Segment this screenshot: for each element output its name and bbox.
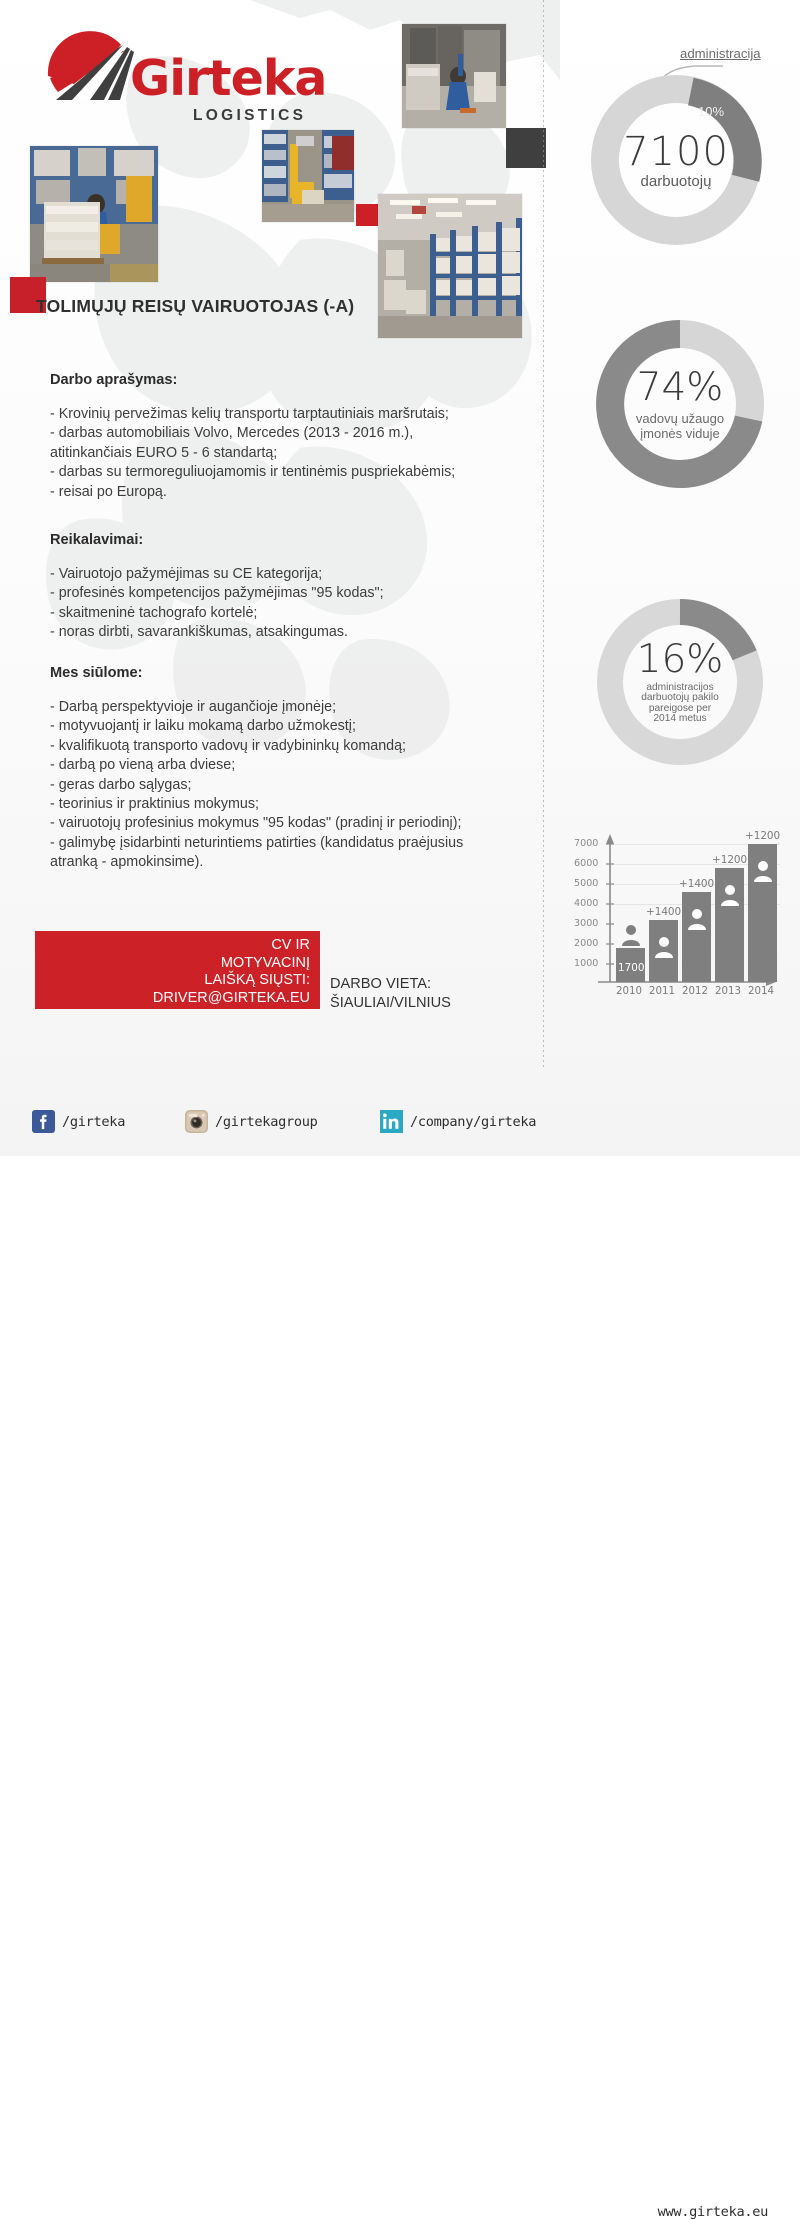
cv-contact-box[interactable]: CV IR MOTYVACINĮ LAIŠKĄ SIŲSTI: DRIVER@G… bbox=[35, 931, 320, 1009]
requirements-section: Reikalavimai: - Vairuotojo pažymėjimas s… bbox=[50, 532, 530, 643]
footer-linkedin[interactable]: /company/girteka bbox=[380, 1110, 536, 1133]
offer-item: - teorinius ir praktinius mokymus; bbox=[50, 795, 530, 814]
cv-line-2: MOTYVACINĮ bbox=[153, 955, 310, 973]
employees-caption: darbuotojų bbox=[641, 174, 712, 189]
vertical-divider bbox=[543, 0, 544, 1070]
xtick-2010: 2010 bbox=[616, 986, 642, 997]
job-location: DARBO VIETA: ŠIAULIAI/VILNIUS bbox=[330, 975, 451, 1013]
managers-donut-chart: 74% vadovų užaugo įmonės viduje bbox=[594, 318, 766, 490]
ytick-7000: 7000 bbox=[574, 838, 598, 849]
job-location-value: ŠIAULIAI/VILNIUS bbox=[330, 994, 451, 1013]
person-icon-2011 bbox=[654, 936, 674, 958]
promotion-caption-2: darbuotojų pakilo bbox=[641, 693, 719, 703]
photo-warehouse-racks bbox=[378, 194, 522, 338]
bar-value-2010: 1700 bbox=[618, 962, 644, 974]
promotion-donut-center: 16% administracijos darbuotojų pakilo pa… bbox=[594, 596, 766, 768]
requirements-item: - Vairuotojo pažymėjimas su CE kategorij… bbox=[50, 565, 530, 584]
administracija-callout-label: administracija bbox=[680, 46, 761, 61]
bar-value-2011: +1400 bbox=[646, 906, 681, 918]
ytick-4000: 4000 bbox=[574, 898, 598, 909]
offer-heading: Mes siūlome: bbox=[50, 665, 530, 681]
photo-forklift-aisle bbox=[262, 130, 354, 222]
managers-caption-1: vadovų užaugo bbox=[636, 412, 724, 426]
footer-facebook[interactable]: /girteka bbox=[32, 1110, 125, 1133]
offer-item: - motyvuojantį ir laiku mokamą darbo užm… bbox=[50, 717, 530, 736]
description-item: - darbas su termoreguliuojamomis ir tent… bbox=[50, 463, 530, 482]
employees-donut-chart: 10% 7100 darbuotojų bbox=[590, 74, 762, 246]
managers-caption-2: įmonės viduje bbox=[640, 427, 720, 441]
facebook-icon bbox=[32, 1110, 55, 1133]
ytick-3000: 3000 bbox=[574, 918, 598, 929]
person-icon-2012 bbox=[687, 908, 707, 930]
ytick-2000: 2000 bbox=[574, 938, 598, 949]
logo-wordmark: Girteka bbox=[130, 54, 327, 103]
xtick-2011: 2011 bbox=[649, 986, 675, 997]
offer-item: - darbą po vieną arba dviese; bbox=[50, 756, 530, 775]
instagram-handle: /girtekagroup bbox=[215, 1114, 318, 1130]
requirements-list: - Vairuotojo pažymėjimas su CE kategorij… bbox=[50, 565, 530, 643]
linkedin-icon bbox=[380, 1110, 403, 1133]
footer-instagram[interactable]: /girtekagroup bbox=[185, 1110, 318, 1133]
offer-section: Mes siūlome: - Darbą perspektyvioje ir a… bbox=[50, 665, 530, 873]
ytick-1000: 1000 bbox=[574, 958, 598, 969]
xtick-2013: 2013 bbox=[715, 986, 741, 997]
managers-percent: 74% bbox=[637, 368, 724, 407]
decorative-square-dark bbox=[506, 128, 546, 168]
poster-page: Girteka LOGISTICS bbox=[0, 0, 800, 1156]
employees-count: 7100 bbox=[623, 132, 729, 172]
ytick-6000: 6000 bbox=[574, 858, 598, 869]
person-icon-2014 bbox=[753, 860, 773, 882]
footer-website[interactable]: www.girteka.eu bbox=[658, 2204, 768, 2220]
requirements-heading: Reikalavimai: bbox=[50, 532, 530, 548]
cv-contact-lines: CV IR MOTYVACINĮ LAIŠKĄ SIŲSTI: DRIVER@G… bbox=[153, 937, 310, 1007]
bar-value-2014: +1200 bbox=[745, 830, 780, 842]
page-title: TOLIMŲJŲ REISŲ VAIRUOTOJAS (-A) bbox=[36, 296, 354, 317]
photo-pallet-truck-worker bbox=[30, 146, 158, 282]
decorative-square-red-mid bbox=[356, 204, 378, 226]
promotion-caption-4: 2014 metus bbox=[653, 714, 706, 724]
bar-value-2013: +1200 bbox=[712, 854, 747, 866]
offer-item: - kvalifikuotą transporto vadovų ir vady… bbox=[50, 737, 530, 756]
offer-item: - vairuotojų profesinius mokymus "95 kod… bbox=[50, 814, 530, 833]
job-location-label: DARBO VIETA: bbox=[330, 975, 451, 994]
offer-item: atranką - apmokinsime). bbox=[50, 853, 530, 872]
description-item: atitinkančiais EURO 5 - 6 standartą; bbox=[50, 444, 530, 463]
footer: /girteka /girtekagroup /company/girteka bbox=[0, 1092, 800, 1156]
cv-email[interactable]: DRIVER@GIRTEKA.EU bbox=[153, 990, 310, 1008]
offer-item: - galimybę įsidarbinti neturintiems pati… bbox=[50, 834, 530, 853]
bar-2012 bbox=[682, 892, 711, 982]
description-item: - darbas automobiliais Volvo, Mercedes (… bbox=[50, 424, 530, 443]
xtick-2014: 2014 bbox=[748, 986, 774, 997]
offer-item: - Darbą perspektyvioje ir augančioje įmo… bbox=[50, 698, 530, 717]
description-heading: Darbo aprašymas: bbox=[50, 372, 530, 388]
requirements-item: - profesinės kompetencijos pažymėjimas "… bbox=[50, 584, 530, 603]
logo-subtitle: LOGISTICS bbox=[193, 107, 306, 125]
description-list: - Krovinių pervežimas kelių transportu t… bbox=[50, 405, 530, 502]
offer-item: - geras darbo sąlygas; bbox=[50, 776, 530, 795]
photo-warehouse-worker-top bbox=[402, 24, 506, 128]
managers-donut-center: 74% vadovų užaugo įmonės viduje bbox=[594, 318, 766, 490]
linkedin-handle: /company/girteka bbox=[410, 1114, 536, 1130]
description-section: Darbo aprašymas: - Krovinių pervežimas k… bbox=[50, 372, 530, 502]
description-item: - reisai po Europą. bbox=[50, 483, 530, 502]
facebook-handle: /girteka bbox=[62, 1114, 125, 1130]
promotion-percent: 16% bbox=[637, 640, 724, 679]
xtick-2012: 2012 bbox=[682, 986, 708, 997]
offer-list: - Darbą perspektyvioje ir augančioje įmo… bbox=[50, 698, 530, 873]
company-logo: Girteka LOGISTICS bbox=[30, 24, 280, 114]
employees-donut-center: 7100 darbuotojų bbox=[590, 74, 762, 246]
cv-line-3: LAIŠKĄ SIŲSTI: bbox=[153, 972, 310, 990]
promotion-donut-chart: 16% administracijos darbuotojų pakilo pa… bbox=[594, 596, 766, 768]
cv-line-1: CV IR bbox=[153, 937, 310, 955]
person-icon-2010 bbox=[621, 924, 641, 946]
person-icon-2013 bbox=[720, 884, 740, 906]
ytick-5000: 5000 bbox=[574, 878, 598, 889]
bar-value-2012: +1400 bbox=[679, 878, 714, 890]
growth-bar-chart: 7000 6000 5000 4000 3000 2000 1000 1700 … bbox=[568, 832, 780, 1017]
requirements-item: - noras dirbti, savarankiškumas, atsakin… bbox=[50, 623, 530, 642]
instagram-icon bbox=[185, 1110, 208, 1133]
requirements-item: - skaitmeninė tachografo kortelė; bbox=[50, 604, 530, 623]
description-item: - Krovinių pervežimas kelių transportu t… bbox=[50, 405, 530, 424]
